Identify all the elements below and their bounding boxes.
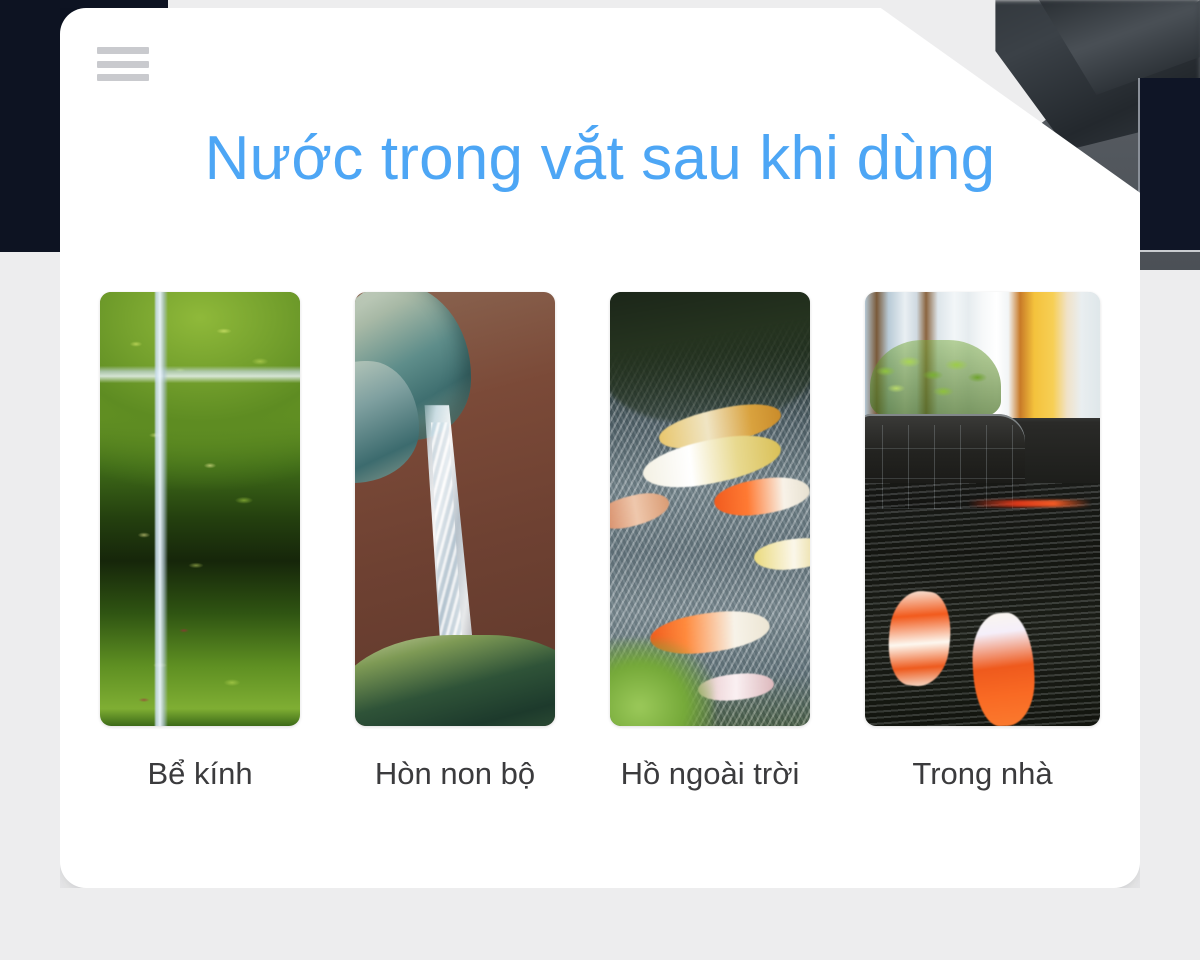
gallery-item-ho-ngoai-troi[interactable]: Hồ ngoài trời [610, 292, 810, 792]
pond-shadow-bank [610, 292, 810, 422]
thumbnail-indoor-pond[interactable] [865, 292, 1100, 726]
gallery-item-trong-nha[interactable]: Trong nhà [865, 292, 1100, 792]
gallery-item-hon-non-bo[interactable]: Hòn non bộ [355, 292, 555, 792]
hamburger-bar-3 [97, 74, 149, 81]
scene-planted-glass-aquarium [100, 292, 300, 726]
gallery-caption: Bể kính [147, 756, 252, 792]
thumbnail-outdoor-pond[interactable] [610, 292, 810, 726]
rock-lower [355, 635, 555, 726]
scene-rock-water-fountain [355, 292, 555, 726]
hamburger-menu-icon[interactable] [97, 41, 149, 87]
hamburger-bar-1 [97, 47, 149, 54]
gallery-grid: Bể kính Hòn non bộ [88, 292, 1112, 792]
scene-outdoor-koi-pond [610, 292, 810, 726]
gallery-item-be-kinh[interactable]: Bể kính [100, 292, 300, 792]
koi-fish [753, 535, 810, 574]
gallery-caption: Trong nhà [912, 756, 1052, 792]
gallery-caption: Hòn non bộ [375, 756, 535, 792]
gallery-caption: Hồ ngoài trời [621, 756, 800, 792]
page-title: Nước trong vắt sau khi dùng [60, 126, 1140, 193]
water-reflection-stripe [968, 500, 1090, 507]
koi-fish [610, 487, 673, 535]
scene-indoor-koi-pond [865, 292, 1100, 726]
thumbnail-glass-aquarium[interactable] [100, 292, 300, 726]
photographed-environment: Nước trong vắt sau khi dùng Bể kính [0, 0, 1200, 960]
pond-foliage [610, 639, 714, 726]
display-bezel-right [1138, 78, 1200, 252]
hamburger-bar-2 [97, 61, 149, 68]
thumbnail-rock-fountain[interactable] [355, 292, 555, 726]
planter-foliage [870, 340, 1002, 418]
app-card: Nước trong vắt sau khi dùng Bể kính [60, 8, 1140, 888]
